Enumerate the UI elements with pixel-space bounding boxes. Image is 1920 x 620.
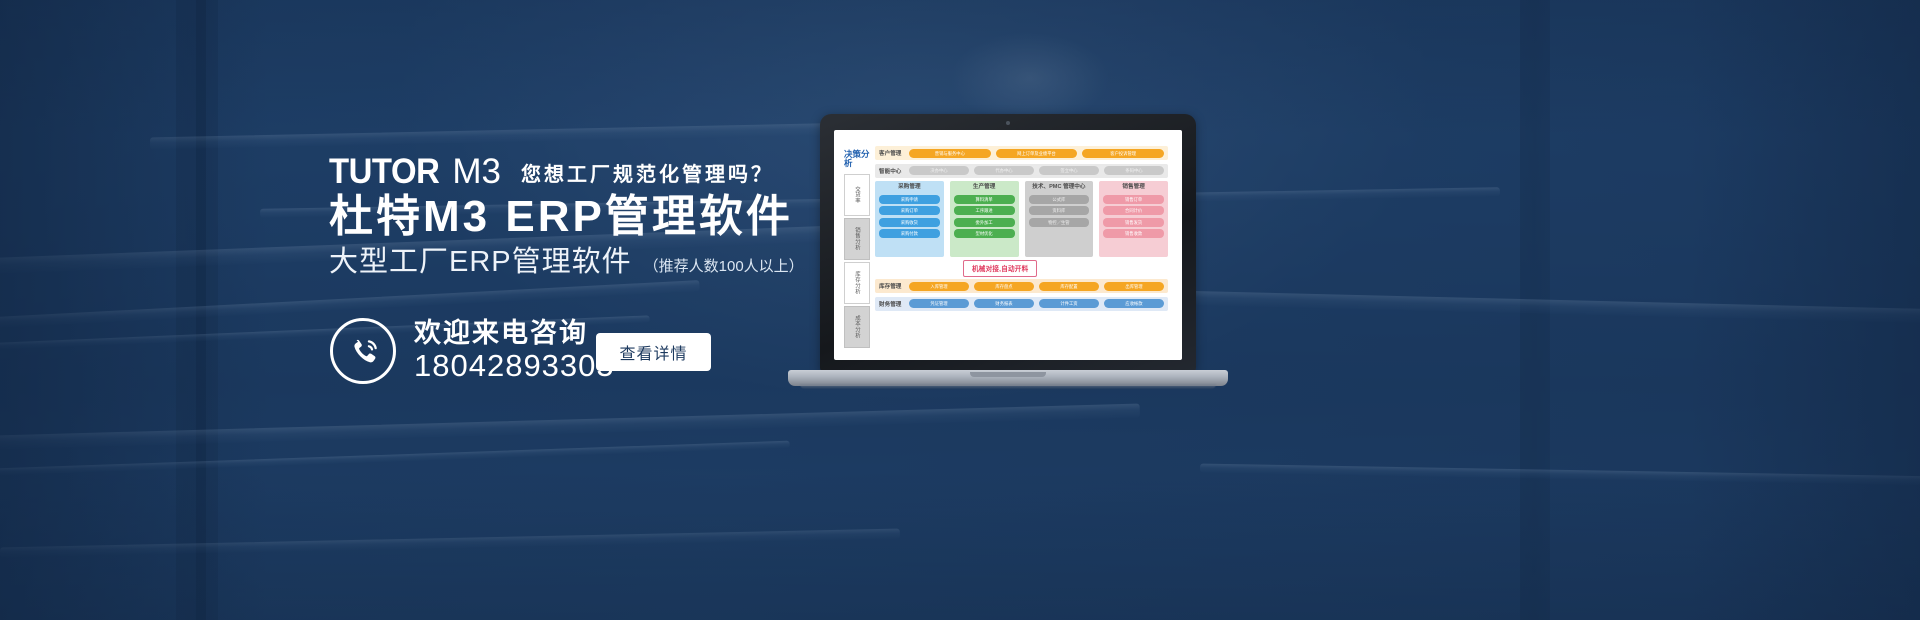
erp-column-item[interactable]: 工序跟进 xyxy=(954,206,1015,215)
headline: 杜特M3 ERP管理软件 xyxy=(329,180,793,244)
erp-sidebar-title-line1: 决策分析 xyxy=(844,150,870,168)
erp-chip[interactable]: 凭证管理 xyxy=(909,299,969,308)
laptop-screen: 决策分析 交货率 销售分析 库存分析 成本分析 xyxy=(834,130,1182,360)
erp-column-title: 采购管理 xyxy=(879,184,940,192)
erp-chip[interactable]: 库存配置 xyxy=(1039,282,1099,291)
contact-number[interactable]: 18042893305 xyxy=(414,350,615,382)
erp-highlight-row: 机械对接,自动开料 xyxy=(875,261,1168,276)
erp-band-title: 财务管理 xyxy=(879,300,905,308)
erp-sidebar: 决策分析 交货率 销售分析 库存分析 成本分析 xyxy=(844,146,870,348)
erp-column-item[interactable]: 采购申请 xyxy=(879,195,940,204)
phone-ringing-icon[interactable] xyxy=(330,318,396,384)
subtitle: 大型工厂ERP管理软件 xyxy=(329,238,632,280)
erp-column-item[interactable]: 物控／生管 xyxy=(1029,218,1090,227)
erp-chip[interactable]: 营销与服务中心 xyxy=(909,149,991,158)
hero-banner: TUTOR M3 您想工厂规范化管理吗？ 杜特M3 ERP管理软件 大型工厂ER… xyxy=(0,0,1920,620)
erp-column-sales: 销售管理 销售订单 合同计价 销售发货 销售收款 xyxy=(1099,181,1168,257)
erp-chip[interactable]: 出库管理 xyxy=(1104,282,1164,291)
erp-chip[interactable]: 入库管理 xyxy=(909,282,969,291)
erp-chip[interactable]: 网上订单及业绩平台 xyxy=(996,149,1078,158)
laptop-mockup: 决策分析 交货率 销售分析 库存分析 成本分析 xyxy=(788,114,1228,389)
erp-chip[interactable]: 客户投诉管理 xyxy=(1082,149,1164,158)
erp-chip-group: 入库管理 库存盘点 库存配置 出库管理 xyxy=(909,282,1164,291)
laptop-shadow xyxy=(800,384,1216,389)
contact-label: 欢迎来电咨询 xyxy=(414,320,615,348)
erp-column-title: 销售管理 xyxy=(1103,184,1164,192)
erp-column-produce: 生产管理 算料清单 工序跟进 委外加工 型材优化 xyxy=(950,181,1019,257)
erp-chip[interactable]: 代办中心 xyxy=(974,166,1034,175)
erp-column-item[interactable]: 采购订单 xyxy=(879,206,940,215)
erp-column-tech: 技术、PMC 管理中心 公式库 资料库 物控／生管 xyxy=(1025,181,1094,257)
erp-main: 客户管理 营销与服务中心 网上订单及业绩平台 客户投诉管理 智能 xyxy=(875,146,1168,348)
erp-column-item[interactable]: 型材优化 xyxy=(954,229,1015,238)
erp-column-item[interactable]: 资料库 xyxy=(1029,206,1090,215)
erp-chip[interactable]: 计件工资 xyxy=(1039,299,1099,308)
erp-column-item[interactable]: 采购付款 xyxy=(879,229,940,238)
erp-chip-group: 营销与服务中心 网上订单及业绩平台 客户投诉管理 xyxy=(909,149,1164,158)
erp-chip[interactable]: 应收帐款 xyxy=(1104,299,1164,308)
erp-column-item[interactable]: 销售收款 xyxy=(1103,229,1164,238)
contact-row: 欢迎来电咨询 18042893305 xyxy=(330,318,615,384)
erp-column-item[interactable]: 销售订单 xyxy=(1103,195,1164,204)
erp-chip-group: 凭证管理 财务报表 计件工资 应收帐款 xyxy=(909,299,1164,308)
erp-band-stock: 库存管理 入库管理 库存盘点 库存配置 出库管理 xyxy=(875,279,1168,293)
erp-column-purchase: 采购管理 采购申请 采购订单 采购收货 采购付款 xyxy=(875,181,944,257)
erp-band-title: 客户管理 xyxy=(879,149,905,157)
view-details-button[interactable]: 查看详情 xyxy=(596,333,711,371)
erp-chip-group: 决办中心 代办中心 签立中心 条码中心 xyxy=(909,166,1164,175)
erp-column-item[interactable]: 委外加工 xyxy=(954,218,1015,227)
erp-chip[interactable]: 决办中心 xyxy=(909,166,969,175)
erp-sidebar-tab-0[interactable]: 交货率 xyxy=(844,174,870,216)
erp-sidebar-tab-1[interactable]: 销售分析 xyxy=(844,218,870,260)
subtitle-row: 大型工厂ERP管理软件 （推荐人数100人以上） xyxy=(329,238,804,280)
erp-band-finance: 财务管理 凭证管理 财务报表 计件工资 应收帐款 xyxy=(875,297,1168,311)
laptop-notch xyxy=(970,372,1046,377)
erp-band-title: 库存管理 xyxy=(879,282,905,290)
erp-column-item[interactable]: 公式库 xyxy=(1029,195,1090,204)
erp-highlight-badge: 机械对接,自动开料 xyxy=(963,260,1037,277)
erp-column-item[interactable]: 合同计价 xyxy=(1103,206,1164,215)
subtitle-note: （推荐人数100人以上） xyxy=(644,255,804,276)
erp-chip[interactable]: 签立中心 xyxy=(1039,166,1099,175)
erp-band-title: 智能中心 xyxy=(879,167,905,175)
banner-content: TUTOR M3 您想工厂规范化管理吗？ 杜特M3 ERP管理软件 大型工厂ER… xyxy=(0,0,1920,620)
erp-chip[interactable]: 库存盘点 xyxy=(974,282,1034,291)
erp-chip[interactable]: 条码中心 xyxy=(1104,166,1164,175)
erp-column-group: 采购管理 采购申请 采购订单 采购收货 采购付款 生产管理 算料清单 xyxy=(875,181,1168,257)
erp-band-customer: 客户管理 营销与服务中心 网上订单及业绩平台 客户投诉管理 xyxy=(875,146,1168,160)
erp-sidebar-title: 决策分析 xyxy=(844,146,870,172)
erp-column-title: 技术、PMC 管理中心 xyxy=(1029,184,1090,192)
erp-sidebar-tab-3[interactable]: 成本分析 xyxy=(844,306,870,348)
webcam-icon xyxy=(1006,121,1010,125)
erp-column-title: 生产管理 xyxy=(954,184,1015,192)
erp-column-item[interactable]: 采购收货 xyxy=(879,218,940,227)
erp-chip[interactable]: 财务报表 xyxy=(974,299,1034,308)
erp-column-item[interactable]: 算料清单 xyxy=(954,195,1015,204)
erp-column-item[interactable]: 销售发货 xyxy=(1103,218,1164,227)
erp-sidebar-tab-2[interactable]: 库存分析 xyxy=(844,262,870,304)
erp-diagram: 决策分析 交货率 销售分析 库存分析 成本分析 xyxy=(834,130,1182,360)
laptop-lid: 决策分析 交货率 销售分析 库存分析 成本分析 xyxy=(820,114,1196,372)
erp-band-smart: 智能中心 决办中心 代办中心 签立中心 条码中心 xyxy=(875,164,1168,178)
contact-text: 欢迎来电咨询 18042893305 xyxy=(414,320,615,382)
